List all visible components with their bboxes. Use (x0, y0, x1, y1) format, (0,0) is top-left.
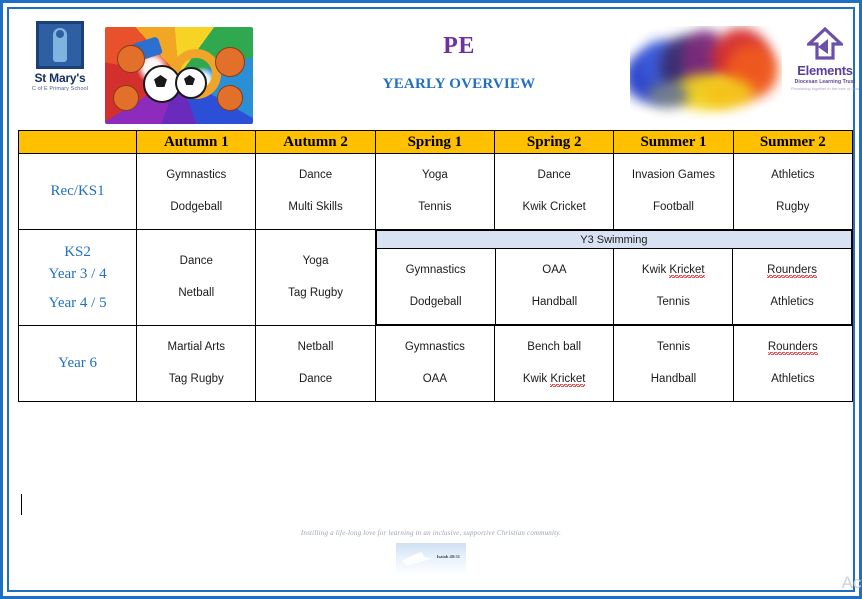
year-group-label-year-6: Year 6 (19, 326, 137, 402)
page-content: St Mary's C of E Primary School PE YEARL… (9, 9, 853, 590)
sports-collage-image (105, 27, 253, 124)
cell-year6-autumn-1: Martial Arts Tag Rugby (137, 326, 256, 402)
cell-rec-ks1-autumn-1: Gymnastics Dodgeball (137, 154, 256, 230)
activity: Tennis (614, 341, 732, 355)
activity: Dance (256, 169, 374, 183)
header-cell-summer-2: Summer 2 (733, 131, 852, 154)
cell-rec-ks1-spring-2: Dance Kwik Cricket (495, 154, 614, 230)
swimming-band-row: Y3 Swimming (376, 231, 851, 249)
activity: Tag Rugby (137, 373, 255, 387)
school-logo: St Mary's C of E Primary School (23, 21, 97, 92)
year-group-label-ks2: KS2 Year 3 / 4 Year 4 / 5 (19, 230, 137, 326)
school-logo-name: St Mary's (23, 72, 97, 85)
page-inner-border: St Mary's C of E Primary School PE YEARL… (7, 7, 855, 592)
activity: Dodgeball (137, 201, 255, 215)
cell-ks2-summer-2: Rounders Athletics (733, 249, 852, 325)
activity: Handball (614, 373, 732, 387)
activity: Tag Rugby (256, 287, 374, 301)
cell-ks2-summer-1: Kwik Kricket Tennis (614, 249, 733, 325)
activity: Gymnastics (137, 169, 255, 183)
activity: Dance (495, 169, 613, 183)
header-cell-blank (19, 131, 137, 154)
cell-ks2-spring-2: OAA Handball (495, 249, 614, 325)
trust-logo-subtitle: Diocesan Learning Trust (789, 79, 861, 85)
activity: OAA (376, 373, 494, 387)
activity: Handball (496, 296, 614, 310)
cell-year6-summer-1: Tennis Handball (614, 326, 733, 402)
activity: Dance (256, 373, 374, 387)
table-row-ks2: KS2 Year 3 / 4 Year 4 / 5 Dance Netball … (19, 230, 853, 326)
colour-powder-image (630, 26, 782, 120)
year-line: Year 6 (58, 355, 97, 371)
activity: Dodgeball (377, 296, 495, 310)
bird-icon (402, 552, 432, 566)
header-cell-summer-1: Summer 1 (614, 131, 733, 154)
page-subtitle: YEARLY OVERVIEW (309, 76, 609, 93)
cell-rec-ks1-spring-1: Yoga Tennis (375, 154, 494, 230)
table-row-year-6: Year 6 Martial Arts Tag Rugby Netball Da… (19, 326, 853, 402)
activity: Invasion Games (614, 169, 732, 183)
cell-year6-spring-2: Bench ball Kwik Kricket (495, 326, 614, 402)
activity: Netball (256, 341, 374, 355)
year-line: Year 3 / 4 (49, 266, 107, 282)
ks2-activities-row: Gymnastics Dodgeball OAA Handball Kwik K… (376, 249, 851, 325)
elements-arrow-icon (807, 27, 843, 61)
cell-ks2-autumn-1: Dance Netball (137, 230, 256, 326)
activity: Bench ball (495, 341, 613, 355)
activity-misspelled: Rounders (734, 341, 852, 355)
table-header-row: Autumn 1 Autumn 2 Spring 1 Spring 2 Summ… (19, 131, 853, 154)
school-logo-subtitle: C of E Primary School (23, 86, 97, 92)
document-header: St Mary's C of E Primary School PE YEARL… (9, 9, 853, 125)
cell-ks2-autumn-2: Yoga Tag Rugby (256, 230, 375, 326)
activity: Athletics (733, 296, 851, 310)
page-title: PE (309, 33, 609, 60)
cell-ks2-spring-1: Gymnastics Dodgeball (376, 249, 495, 325)
table-row-rec-ks1: Rec/KS1 Gymnastics Dodgeball Dance Multi… (19, 154, 853, 230)
title-block: PE YEARLY OVERVIEW (309, 33, 609, 93)
verse-reference: Isaiah 40:31 (437, 554, 460, 559)
cell-rec-ks1-autumn-2: Dance Multi Skills (256, 154, 375, 230)
activity-misspelled: Rounders (733, 264, 851, 278)
trust-logo-name: Elements (789, 63, 861, 78)
trust-logo: Elements Diocesan Learning Trust Flouris… (789, 27, 861, 91)
year-line: Year 4 / 5 (49, 295, 107, 311)
soaring-bird-image: Isaiah 40:31 (396, 543, 466, 575)
cell-rec-ks1-summer-2: Athletics Rugby (733, 154, 852, 230)
st-marys-crest-icon (36, 21, 84, 69)
activity: Rugby (734, 201, 852, 215)
activity: Tennis (614, 296, 732, 310)
pe-yearly-overview-table: Autumn 1 Autumn 2 Spring 1 Spring 2 Summ… (18, 130, 853, 402)
activity: Yoga (376, 169, 494, 183)
activity-misspelled: Kwik Kricket (495, 373, 613, 387)
cell-year6-summer-2: Rounders Athletics (733, 326, 852, 402)
activity: Dance (137, 255, 255, 269)
text-cursor-caret (21, 494, 22, 515)
activity: Tennis (376, 201, 494, 215)
cell-year6-spring-1: Gymnastics OAA (375, 326, 494, 402)
activity: Yoga (256, 255, 374, 269)
header-cell-spring-2: Spring 2 (495, 131, 614, 154)
trust-logo-tagline: Flourishing together in the love of God (789, 86, 861, 91)
activation-watermark: Acti (842, 573, 862, 593)
activity: Multi Skills (256, 201, 374, 215)
school-motto: Instilling a life-long love for learning… (9, 529, 853, 537)
activity: Gymnastics (376, 341, 494, 355)
cell-year6-autumn-2: Netball Dance (256, 326, 375, 402)
activity: Athletics (734, 373, 852, 387)
header-cell-autumn-2: Autumn 2 (256, 131, 375, 154)
activity-misspelled: Kwik Kricket (614, 264, 732, 278)
cell-rec-ks1-summer-1: Invasion Games Football (614, 154, 733, 230)
header-cell-autumn-1: Autumn 1 (137, 131, 256, 154)
document-footer: Instilling a life-long love for learning… (9, 529, 853, 575)
document-page: St Mary's C of E Primary School PE YEARL… (0, 0, 862, 599)
year-group-label-rec-ks1: Rec/KS1 (19, 154, 137, 230)
year-line: Rec/KS1 (50, 183, 104, 199)
header-cell-spring-1: Spring 1 (375, 131, 494, 154)
activity: Netball (137, 287, 255, 301)
activity: Martial Arts (137, 341, 255, 355)
activity: Gymnastics (377, 264, 495, 278)
activity: Football (614, 201, 732, 215)
swim-band-label: Y3 Swimming (376, 231, 851, 249)
ks2-swim-and-activities-group: Y3 Swimming Gymnastics Dodgeball OAA (375, 230, 852, 326)
activity: Kwik Cricket (495, 201, 613, 215)
activity: OAA (496, 264, 614, 278)
activity: Athletics (734, 169, 852, 183)
year-line: KS2 (64, 244, 91, 260)
